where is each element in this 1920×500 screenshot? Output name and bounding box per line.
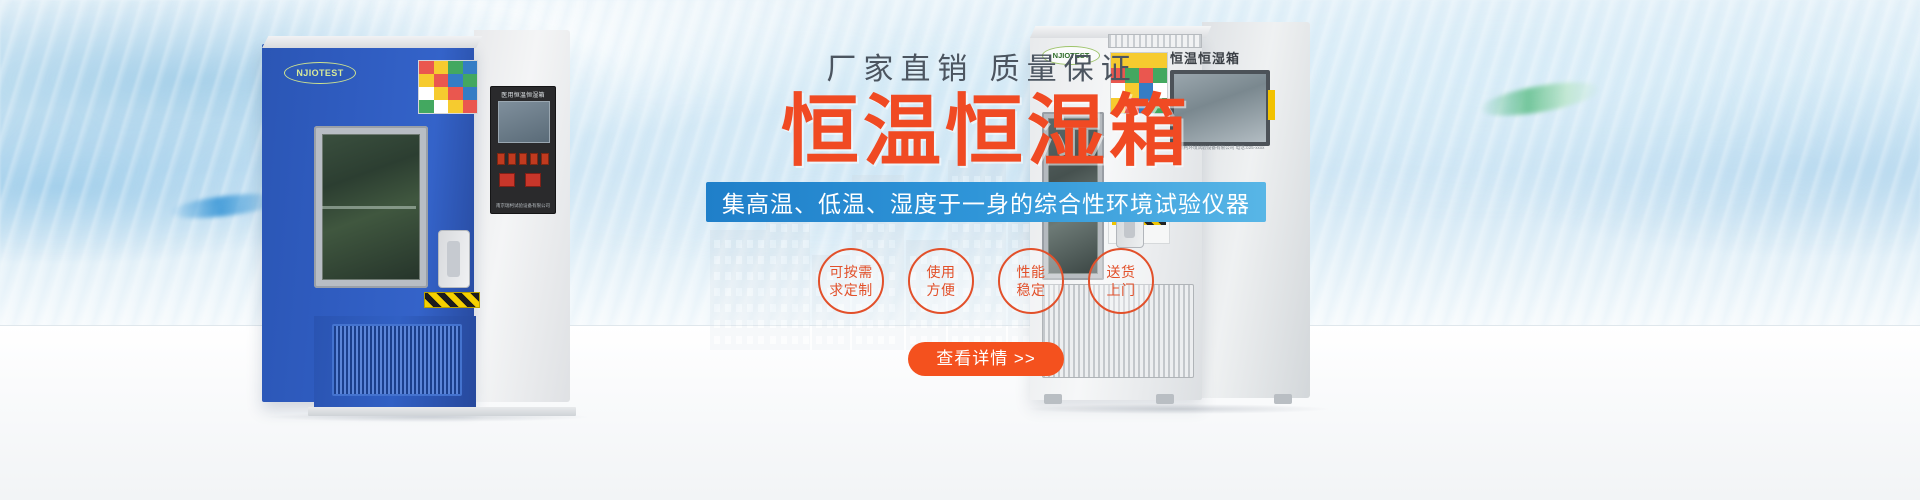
left-machine-door-handle bbox=[438, 230, 470, 288]
feature-circle-line2: 方便 bbox=[927, 281, 956, 299]
feature-circle-easy-use[interactable]: 使用 方便 bbox=[908, 248, 974, 314]
left-machine-control-panel: 医用恒温恒湿箱 南京瑞柯试验设备有限公司 bbox=[490, 86, 556, 214]
left-machine-vent-grille bbox=[332, 324, 462, 396]
feature-circle-line1: 性能 bbox=[1017, 263, 1046, 281]
banner-subtitle-bar: 集高温、低温、湿度于一身的综合性环境试验仪器 bbox=[706, 182, 1266, 222]
left-machine-warning-sticker bbox=[418, 60, 478, 114]
view-details-button[interactable]: 查看详情 >> bbox=[908, 342, 1064, 376]
feature-circle-line1: 使用 bbox=[927, 263, 956, 281]
right-machine-legs bbox=[1038, 394, 1306, 404]
left-machine-top-edge bbox=[262, 36, 482, 48]
left-machine-panel-led-strip bbox=[497, 153, 549, 165]
banner-subtitle-text: 集高温、低温、湿度于一身的综合性环境试验仪器 bbox=[722, 185, 1250, 219]
left-machine-base-plinth bbox=[308, 407, 576, 416]
feature-circle-line1: 送货 bbox=[1107, 263, 1136, 281]
feature-circle-line2: 稳定 bbox=[1017, 281, 1046, 299]
product-image-left: NJIOTEST 医用恒温恒湿箱 南京瑞柯试验设备有限公司 bbox=[262, 30, 572, 408]
feature-circle-line1: 可按需 bbox=[829, 263, 873, 281]
banner-headline: 恒温恒湿箱 bbox=[706, 92, 1266, 170]
left-machine-glass-shelf-line bbox=[322, 206, 416, 209]
feature-circle-line2: 上门 bbox=[1107, 281, 1136, 299]
left-machine-panel-company: 南京瑞柯试验设备有限公司 bbox=[491, 203, 555, 209]
left-machine-panel-title: 医用恒温恒湿箱 bbox=[491, 90, 555, 99]
right-machine-shadow bbox=[1028, 404, 1328, 414]
feature-circle-stable[interactable]: 性能 稳定 bbox=[998, 248, 1064, 314]
feature-circle-list: 可按需 求定制 使用 方便 性能 稳定 送货 上门 bbox=[706, 248, 1266, 314]
feature-circle-delivery[interactable]: 送货 上门 bbox=[1088, 248, 1154, 314]
feature-circle-line2: 求定制 bbox=[829, 281, 873, 299]
feature-circle-custom[interactable]: 可按需 求定制 bbox=[818, 248, 884, 314]
left-machine-panel-buttons bbox=[499, 173, 547, 187]
right-machine-yellow-marker bbox=[1268, 90, 1275, 120]
product-banner: NJIOTEST 医用恒温恒湿箱 南京瑞柯试验设备有限公司 NJIO bbox=[0, 0, 1920, 500]
banner-copy-block: 厂家直销 质量保证 恒温恒湿箱 集高温、低温、湿度于一身的综合性环境试验仪器 可… bbox=[706, 44, 1266, 376]
left-machine-panel-screen bbox=[498, 101, 550, 143]
left-machine-brand-logo: NJIOTEST bbox=[284, 62, 356, 84]
banner-kicker: 厂家直销 质量保证 bbox=[698, 44, 1266, 88]
left-machine-hazard-stripe bbox=[424, 292, 480, 308]
cta-row: 查看详情 >> bbox=[706, 342, 1266, 376]
